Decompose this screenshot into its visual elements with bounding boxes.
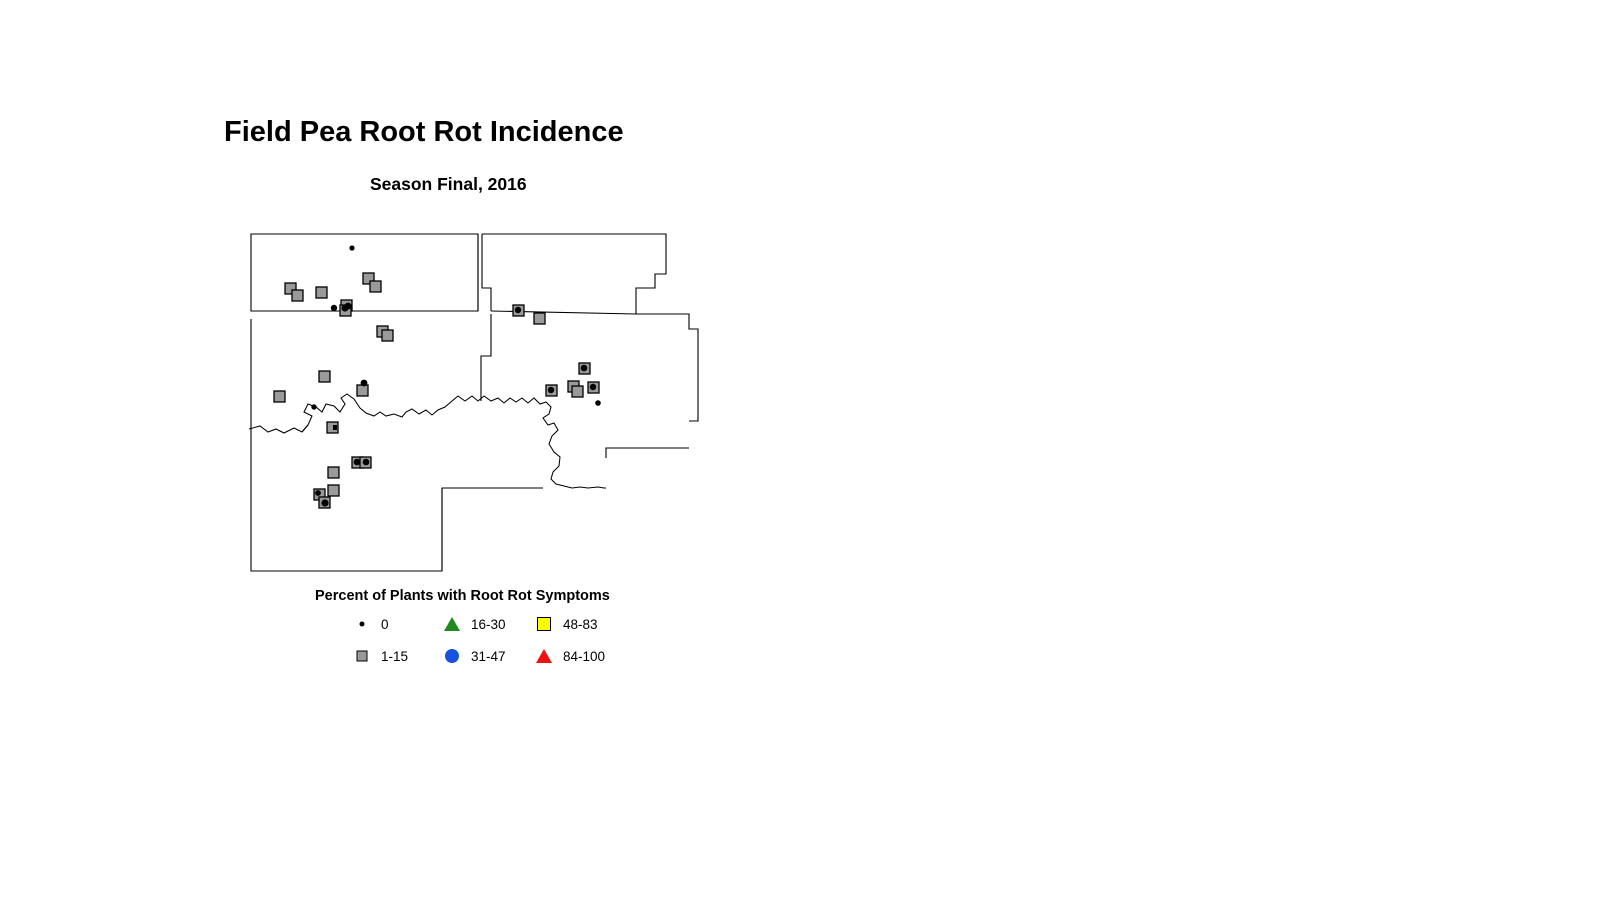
legend-item-4: 31-47 — [442, 644, 506, 668]
marker — [327, 422, 338, 433]
legend-row: 0 16-30 48-83 — [352, 612, 652, 636]
marker — [292, 290, 303, 301]
county-boundaries — [251, 234, 698, 571]
marker — [274, 391, 285, 402]
legend-label: 84-100 — [563, 649, 605, 664]
marker — [382, 330, 393, 341]
green-triangle-icon — [442, 614, 462, 634]
marker — [595, 400, 601, 406]
legend-item-5: 84-100 — [534, 644, 605, 668]
marker — [328, 485, 339, 496]
legend-item-1: 16-30 — [442, 612, 506, 636]
map-figure: Field Pea Root Rot Incidence Season Fina… — [0, 0, 1612, 900]
map-panel — [246, 226, 706, 582]
marker — [319, 497, 330, 508]
page-title: Field Pea Root Rot Incidence — [224, 116, 624, 149]
legend-label: 48-83 — [563, 617, 598, 632]
legend-title: Percent of Plants with Root Rot Symptoms — [315, 588, 610, 604]
legend-label: 31-47 — [471, 649, 506, 664]
marker — [572, 386, 583, 397]
red-triangle-icon — [534, 646, 554, 666]
marker — [588, 382, 599, 393]
legend-row: 1-15 31-47 84-100 — [352, 644, 652, 668]
legend-label: 0 — [381, 617, 389, 632]
legend-item-0: 0 — [352, 612, 389, 636]
map-legend: 0 16-30 48-83 1-15 — [352, 612, 652, 672]
marker — [370, 281, 381, 292]
marker — [347, 243, 357, 253]
marker — [345, 303, 352, 310]
marker — [579, 363, 590, 374]
marker-layer — [274, 243, 601, 508]
legend-item-2: 48-83 — [534, 612, 598, 636]
marker — [360, 457, 371, 468]
marker — [331, 305, 337, 311]
county-map — [246, 226, 706, 582]
yellow-square-icon — [534, 614, 554, 634]
legend-item-3: 1-15 — [352, 644, 408, 668]
river-boundary — [249, 394, 606, 488]
marker — [546, 385, 557, 396]
marker — [513, 305, 524, 316]
marker — [328, 467, 339, 478]
marker — [357, 385, 368, 396]
marker — [319, 371, 330, 382]
marker — [361, 380, 368, 387]
marker — [316, 287, 327, 298]
legend-label: 1-15 — [381, 649, 408, 664]
dot-icon — [352, 614, 372, 634]
page-subtitle: Season Final, 2016 — [370, 174, 527, 195]
marker — [534, 313, 545, 324]
blue-circle-icon — [442, 646, 462, 666]
gray-square-icon — [352, 646, 372, 666]
marker — [311, 404, 316, 409]
legend-label: 16-30 — [471, 617, 506, 632]
